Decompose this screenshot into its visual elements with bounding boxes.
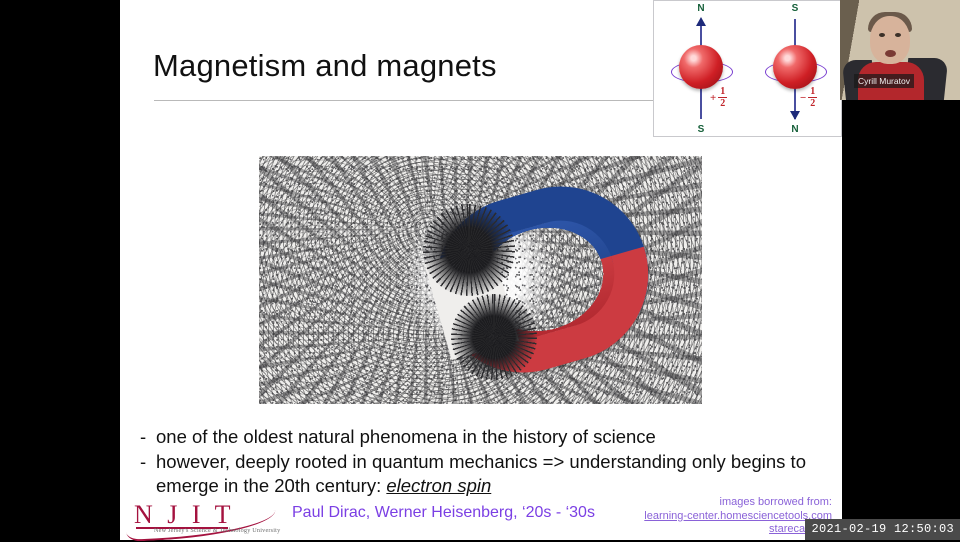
recording-timestamp: 2021-02-19 12:50:03 — [805, 519, 960, 540]
credits-link-1[interactable]: learning-center.homesciencetools.com — [644, 510, 832, 524]
bullet-emphasis: electron spin — [386, 475, 491, 496]
credits-heading: images borrowed from: — [644, 496, 832, 510]
bullet-text: however, deeply rooted in quantum mechan… — [156, 450, 830, 498]
bullet-text: one of the oldest natural phenomena in t… — [156, 425, 830, 449]
image-credits: images borrowed from: learning-center.ho… — [644, 496, 832, 537]
electron-spin-diagram: N S + 1 2 S N − — [653, 0, 842, 137]
spin-up-numerator: 1 — [720, 87, 725, 96]
spin-down-denominator: 2 — [810, 99, 815, 108]
webcam-video-tile[interactable]: Cyrill Muratov — [840, 0, 960, 100]
spin-down-bottom-pole-label: N — [791, 124, 798, 135]
spin-down-figure: S N − 1 2 — [748, 1, 842, 136]
spin-up-bottom-pole-label: S — [698, 124, 705, 135]
magnet-photo — [259, 156, 702, 404]
spin-up-figure: N S + 1 2 — [654, 1, 748, 136]
slide-title: Magnetism and magnets — [153, 48, 497, 84]
webcam-eye-left — [879, 33, 885, 37]
spin-up-electron-sphere — [679, 45, 723, 89]
spin-up-arrow-icon — [696, 17, 706, 26]
spin-down-electron-sphere — [773, 45, 817, 89]
spin-up-value: + 1 2 — [710, 87, 727, 108]
bullet-item-1: - one of the oldest natural phenomena in… — [140, 425, 830, 449]
spin-down-fraction: 1 2 — [808, 87, 817, 108]
spin-up-top-pole-label: N — [697, 3, 704, 14]
screen: Magnetism and magnets - one of the oldes… — [0, 0, 960, 540]
spin-up-denominator: 2 — [720, 99, 725, 108]
spin-down-numerator: 1 — [810, 87, 815, 96]
spin-up-fraction: 1 2 — [718, 87, 727, 108]
bullet-list: - one of the oldest natural phenomena in… — [140, 425, 830, 499]
webcam-participant-name: Cyrill Muratov — [854, 74, 914, 88]
credits-link-2[interactable]: starecat.com — [644, 523, 832, 537]
filings-cluster-lower — [451, 294, 537, 380]
bullet-item-2: - however, deeply rooted in quantum mech… — [140, 450, 830, 498]
authors-note: Paul Dirac, Werner Heisenberg, ‘20s - ‘3… — [292, 504, 595, 522]
spin-up-sign: + — [710, 92, 716, 104]
njit-logo: N J I T New Jersey's Science & Technolog… — [126, 500, 291, 536]
bullet-marker: - — [140, 450, 156, 498]
spin-down-value: − 1 2 — [800, 87, 817, 108]
filings-cluster-upper — [423, 204, 515, 296]
spin-down-sign: − — [800, 92, 806, 104]
njit-tagline: New Jersey's Science & Technology Univer… — [154, 527, 280, 534]
webcam-mouth — [885, 50, 896, 57]
bullet-marker: - — [140, 425, 156, 449]
spin-down-top-pole-label: S — [792, 3, 799, 14]
spin-down-arrow-icon — [790, 111, 800, 120]
webcam-eye-right — [895, 33, 901, 37]
